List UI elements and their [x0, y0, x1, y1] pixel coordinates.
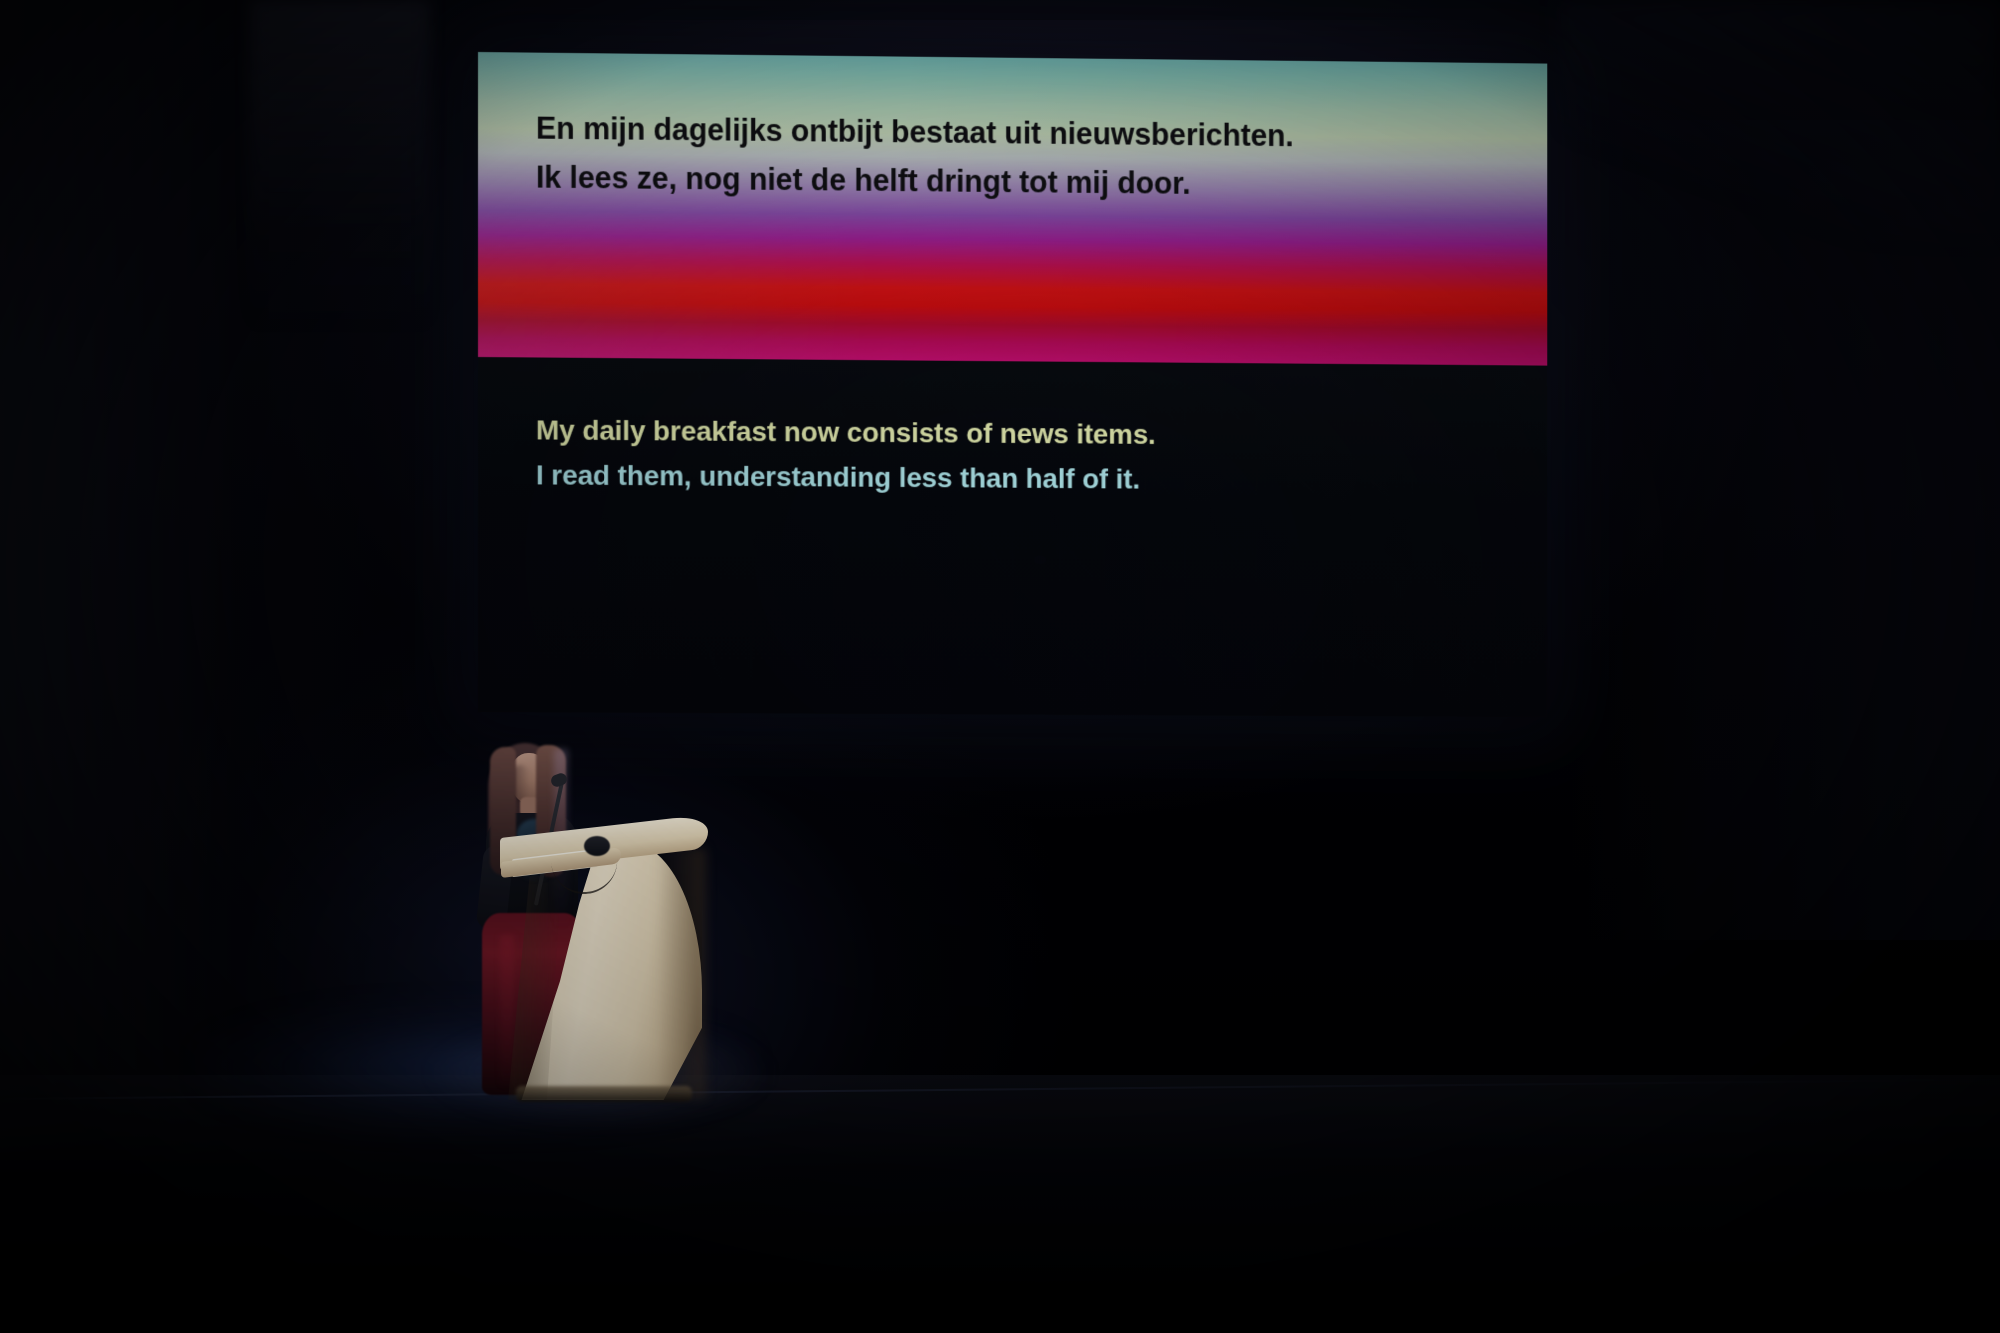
- right-wall: [1570, 120, 2000, 940]
- english-subtitle: My daily breakfast now consists of news …: [536, 407, 1486, 503]
- projection-screen: En mijn dagelijks ontbijt bestaat uit ni…: [478, 52, 1547, 717]
- english-subtitle-line-1: My daily breakfast now consists of news …: [536, 407, 1486, 459]
- screen-surface: En mijn dagelijks ontbijt bestaat uit ni…: [478, 52, 1547, 717]
- audience-silhouettes: [0, 1003, 2000, 1333]
- dutch-caption-line-2: Ik lees ze, nog niet de helft dringt tot…: [536, 154, 1486, 212]
- scene-root: En mijn dagelijks ontbijt bestaat uit ni…: [0, 0, 2000, 1333]
- dutch-caption: En mijn dagelijks ontbijt bestaat uit ni…: [536, 105, 1486, 212]
- microphone-base: [584, 836, 610, 856]
- english-subtitle-line-2: I read them, understanding less than hal…: [536, 452, 1486, 503]
- overhead-rig-left: [250, 0, 430, 330]
